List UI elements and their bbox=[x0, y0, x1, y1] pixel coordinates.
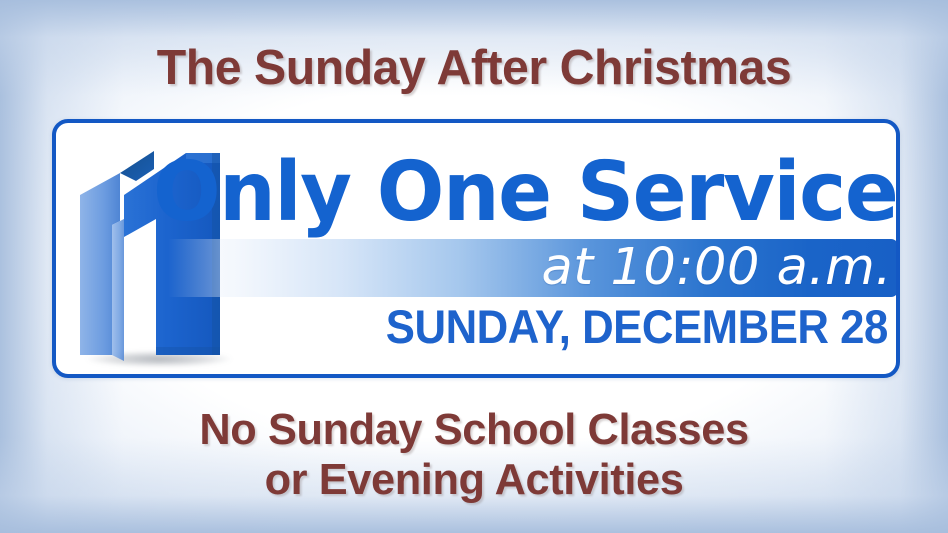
service-time-band: at 10:00 a.m. bbox=[168, 239, 898, 297]
announcement-card: Only One Service at 10:00 a.m. SUNDAY, D… bbox=[52, 119, 900, 378]
footer-message: No Sunday School Classes or Evening Acti… bbox=[0, 405, 948, 505]
slide-headline: The Sunday After Christmas bbox=[7, 41, 941, 95]
announcement-slide: The Sunday After Christmas bbox=[0, 0, 948, 533]
service-date: SUNDAY, DECEMBER 28 bbox=[386, 301, 888, 353]
service-time: at 10:00 a.m. bbox=[541, 240, 892, 296]
footer-message-line-2: or Evening Activities bbox=[7, 455, 941, 505]
footer-message-line-1: No Sunday School Classes bbox=[7, 405, 941, 455]
announcement-card-inner: Only One Service at 10:00 a.m. SUNDAY, D… bbox=[56, 123, 896, 374]
service-heading: Only One Service bbox=[153, 147, 897, 239]
service-heading-row: Only One Service bbox=[186, 147, 898, 243]
